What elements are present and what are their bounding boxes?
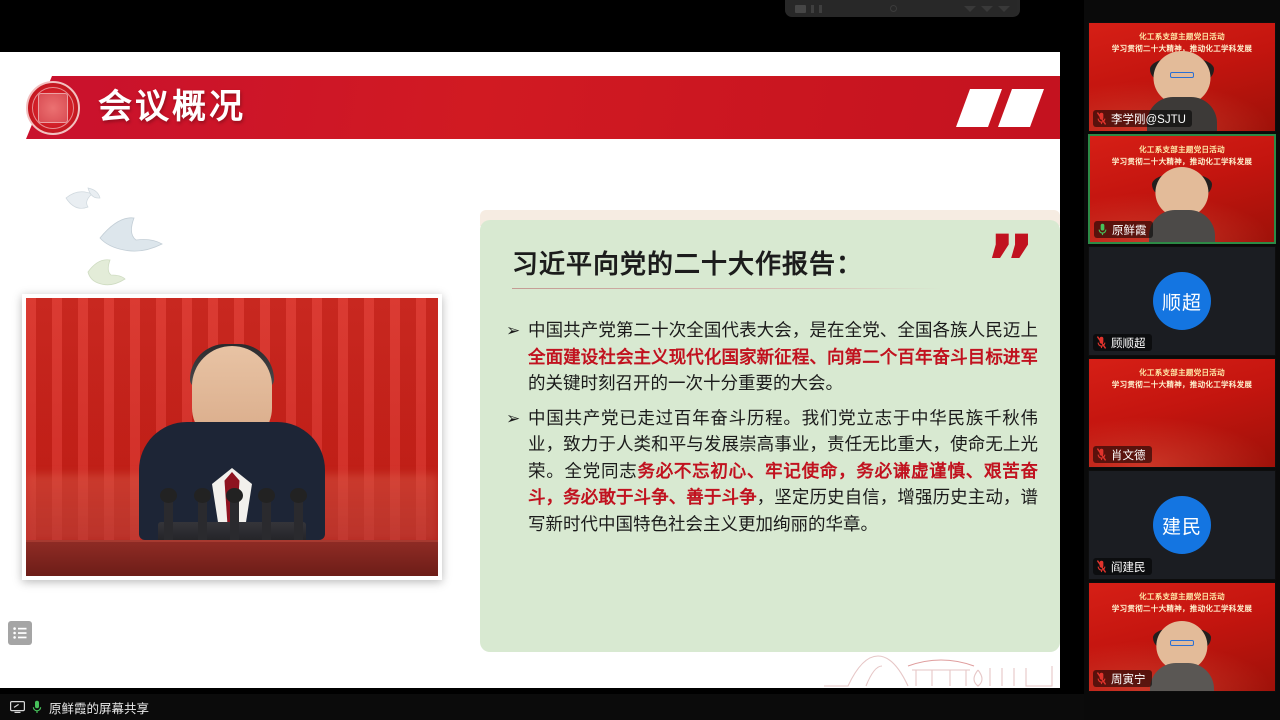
participant-nametag: 李学刚@SJTU: [1093, 110, 1192, 127]
bullet-item: ➢中国共产党已走过百年奋斗历程。我们党立志于中华民族千秋伟业，致力于人类和平与发…: [506, 406, 1038, 539]
bullet-text: 中国共产党第二十次全国代表大会，是在全党、全国各族人民迈上全面建设社会主义现代化…: [528, 318, 1038, 398]
toolbar-divider: [819, 5, 822, 13]
participant-name: 原鲜霞: [1112, 222, 1147, 238]
microphones: [142, 486, 322, 548]
toolbar-divider: [811, 5, 814, 13]
share-status-bar: 原鲜霞的屏幕共享: [0, 694, 1084, 720]
participant-nametag: 阎建民: [1093, 558, 1152, 575]
highlighted-text: 全面建设社会主义现代化国家新征程、向第二个百年奋斗目标进军: [528, 348, 1038, 368]
meeting-toolbar[interactable]: [785, 0, 1020, 17]
microphone-muted-icon: [1096, 560, 1107, 573]
panel-divider: [512, 288, 942, 289]
participant-tile[interactable]: 顺超顾顺超: [1088, 246, 1276, 356]
participant-video-figure: [1150, 599, 1214, 691]
participant-name: 肖文德: [1111, 447, 1146, 463]
bullet-item: ➢中国共产党第二十次全国代表大会，是在全党、全国各族人民迈上全面建设社会主义现代…: [506, 318, 1038, 398]
participant-tile[interactable]: 建民阎建民: [1088, 470, 1276, 580]
participant-nametag: 原鲜霞: [1094, 221, 1153, 238]
virtual-background-line1: 化工系支部主题党日活动: [1089, 367, 1275, 378]
participant-nametag: 顾顺超: [1093, 334, 1152, 351]
banner-accent-shapes: [956, 89, 1050, 129]
participant-video-figure: [1149, 150, 1215, 242]
presentation-slide: 会议概况: [0, 52, 1060, 688]
content-panel: 习近平向党的二十大作报告： ” ➢中国共产党第二十次全国代表大会，是在全党、全国…: [480, 220, 1060, 652]
participant-tile[interactable]: 化工系支部主题党日活动学习贯彻二十大精神，推动化工学科发展原鲜霞: [1088, 134, 1276, 244]
participant-nametag: 肖文德: [1093, 446, 1152, 463]
participant-name: 阎建民: [1111, 559, 1146, 575]
speaker-at-podium-photo: [22, 294, 442, 580]
microphone-icon: [32, 700, 42, 714]
participant-name: 李学刚@SJTU: [1111, 111, 1186, 127]
microphone-muted-icon: [1096, 448, 1107, 461]
bullet-marker-icon: ➢: [506, 406, 528, 539]
body-text: 的关键时刻召开的一次十分重要的大会。: [528, 374, 843, 394]
panel-heading: 习近平向党的二十大作报告：: [512, 244, 863, 281]
chevron-down-icon[interactable]: [964, 6, 976, 12]
bullet-list: ➢中国共产党第二十次全国代表大会，是在全党、全国各族人民迈上全面建设社会主义现代…: [506, 318, 1038, 546]
share-status-label: 原鲜霞的屏幕共享: [49, 698, 149, 717]
shared-screen-area[interactable]: 会议概况: [0, 22, 1060, 694]
participant-name: 周寅宁: [1111, 671, 1146, 687]
chevron-down-icon[interactable]: [981, 6, 993, 12]
participant-tile[interactable]: 化工系支部主题党日活动学习贯彻二十大精神，推动化工学科发展李学刚@SJTU: [1088, 22, 1276, 132]
avatar: 顺超: [1153, 272, 1211, 330]
participant-tile[interactable]: 化工系支部主题党日活动学习贯彻二十大精神，推动化工学科发展周寅宁: [1088, 582, 1276, 692]
virtual-background-line2: 学习贯彻二十大精神，推动化工学科发展: [1089, 379, 1275, 390]
quotation-mark-icon: ”: [985, 226, 1036, 304]
bullet-text: 中国共产党已走过百年奋斗历程。我们党立志于中华民族千秋伟业，致力于人类和平与发展…: [528, 406, 1038, 539]
list-icon: [13, 627, 27, 639]
chevron-down-icon[interactable]: [998, 6, 1010, 12]
sjtu-landmark-watermark: [820, 640, 1060, 688]
microphone-icon: [1097, 223, 1108, 236]
settings-icon[interactable]: [890, 5, 897, 12]
participant-nametag: 周寅宁: [1093, 670, 1152, 687]
participant-tile[interactable]: 化工系支部主题党日活动学习贯彻二十大精神，推动化工学科发展肖文德: [1088, 358, 1276, 468]
meeting-window: 会议概况: [0, 0, 1280, 720]
camera-icon[interactable]: [795, 5, 806, 13]
avatar: 建民: [1153, 496, 1211, 554]
dove-decoration-icon: [58, 180, 208, 295]
slide-title-banner: 会议概况: [0, 76, 1060, 139]
bullet-marker-icon: ➢: [506, 318, 528, 398]
participant-video-strip[interactable]: 化工系支部主题党日活动学习贯彻二十大精神，推动化工学科发展李学刚@SJTU化工系…: [1084, 0, 1280, 720]
presentation-menu-button[interactable]: [8, 621, 32, 645]
screen-share-icon: [10, 701, 25, 713]
participant-name: 顾顺超: [1111, 335, 1146, 351]
microphone-muted-icon: [1096, 336, 1107, 349]
page-title: 会议概况: [98, 85, 246, 130]
sjtu-seal-logo: [26, 81, 80, 135]
body-text: 中国共产党第二十次全国代表大会，是在全党、全国各族人民迈上: [528, 321, 1038, 341]
microphone-muted-icon: [1096, 672, 1107, 685]
microphone-muted-icon: [1096, 112, 1107, 125]
